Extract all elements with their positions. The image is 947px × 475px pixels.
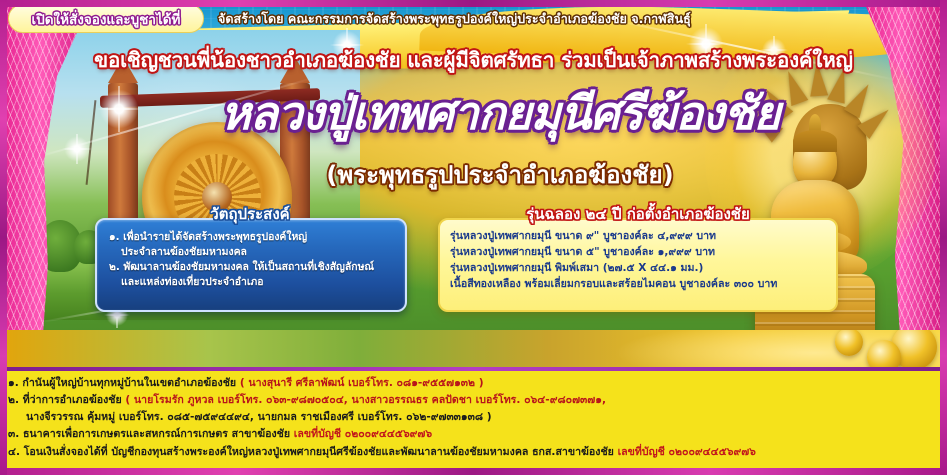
contact-list: ๑. กำนันผู้ใหญ่บ้านทุกหมู่บ้านในเขตอำเภอ…	[8, 375, 768, 461]
builder-credit: จัดสร้างโดย คณะกรรมการจัดสร้างพระพุทธรูป…	[218, 9, 691, 29]
main-title: หลวงปู่เทพศากยมุนีศรีฆ้องชัย	[150, 88, 850, 139]
objectives-heading: วัตถุประสงค์	[95, 202, 405, 226]
headline: ขอเชิญชวนพี่น้องชาวอำเภอฆ้องชัย และผู้มี…	[0, 44, 947, 77]
contact-row: ๓. ธนาคารเพื่อการเกษตรและสหกรณ์การเกษตร …	[8, 426, 768, 443]
version-line: เนื้อสีทองเหลือง พร้อมเลี่ยมกรอบและสร้อย…	[450, 276, 826, 292]
contact-row: ๑. กำนันผู้ใหญ่บ้านทุกหมู่บ้านในเขตอำเภอ…	[8, 375, 768, 392]
contact-label: ๓. ธนาคารเพื่อการเกษตรและสหกรณ์การเกษตร …	[8, 428, 290, 440]
contact-detail: ( นางสุนารี ศรีลาพัฒน์ เบอร์โทร. ๐๘๑-๙๕๕…	[240, 377, 484, 389]
account-number: เลขที่บัญชี ๐๒๐๐๙๔๔๕๖๙๗๖	[294, 428, 432, 440]
gold-bar-background	[0, 330, 947, 368]
versions-heading: รุ่นฉลอง ๒๔ ปี ก่อตั้งอำเภอฆ้องชัย	[438, 202, 838, 226]
version-line: รุ่นหลวงปู่เทพศากยมุนี ขนาด ๙" บูชาองค์ล…	[450, 228, 826, 244]
contact-label: ๔. โอนเงินสั่งจองได้ที่ บัญชีกองทุนสร้าง…	[8, 446, 614, 458]
objective-item-cont: ประจำลานฆ้องชัยมหามงคล	[109, 245, 395, 260]
order-here-label: เปิดให้สั่งจองและบูชาได้ที่	[32, 8, 181, 30]
contact-section: ๑. กำนันผู้ใหญ่บ้านทุกหมู่บ้านในเขตอำเภอ…	[0, 371, 947, 475]
objective-item: ๒. พัฒนาลานฆ้องชัยมหามงคล ให้เป็นสถานที่…	[109, 260, 395, 275]
sub-title: (พระพุทธรูปประจำอำเภอฆ้องชัย)	[150, 155, 850, 194]
contact-label: ๒. ที่ว่าการอำเภอฆ้องชัย	[8, 394, 122, 406]
purple-divider	[0, 367, 947, 371]
poster-canvas: ขอเชิญชวนพี่น้องชาวอำเภอฆ้องชัย และผู้มี…	[0, 0, 947, 475]
order-here-pill: เปิดให้สั่งจองและบูชาได้ที่	[8, 4, 204, 33]
objective-item: ๑. เพื่อนำรายได้จัดสร้างพระพุทธรูปองค์ให…	[109, 230, 395, 245]
objectives-panel: ๑. เพื่อนำรายได้จัดสร้างพระพุทธรูปองค์ให…	[95, 218, 407, 312]
contact-row: ๔. โอนเงินสั่งจองได้ที่ บัญชีกองทุนสร้าง…	[8, 444, 768, 461]
contact-row-continued: นางจีรวรรณ คุ้มหมู่ เบอร์โทร. ๐๘๕-๗๕๙๔๔๙…	[8, 409, 768, 426]
contact-label: ๑. กำนันผู้ใหญ่บ้านทุกหมู่บ้านในเขตอำเภอ…	[8, 377, 236, 389]
contact-detail: ( นายโรมรัก ภูหวล เบอร์โทร. ๐๖๓-๙๘๗๐๕๐๔,…	[125, 394, 606, 406]
gong-hanger-rope	[86, 100, 97, 185]
account-number: เลขที่บัญชี ๐๒๐๐๙๔๔๕๖๙๗๖	[618, 446, 756, 458]
coin-graphic	[867, 340, 901, 368]
frame-border-right	[940, 0, 947, 475]
order-info-bar	[0, 330, 947, 368]
version-line: รุ่นหลวงปู่เทพศากยมุนี พิมพ์เสมา (๒๗.๕ X…	[450, 260, 826, 276]
frame-border-top	[0, 0, 947, 7]
version-line: รุ่นหลวงปู่เทพศากยมุนี ขนาด ๕" บูชาองค์ล…	[450, 244, 826, 260]
versions-panel: รุ่นหลวงปู่เทพศากยมุนี ขนาด ๙" บูชาองค์ล…	[438, 218, 838, 312]
objective-item-cont: และแหล่งท่องเที่ยวประจำอำเภอ	[109, 275, 395, 290]
frame-border-bottom	[0, 468, 947, 475]
contact-row: ๒. ที่ว่าการอำเภอฆ้องชัย ( นายโรมรัก ภูห…	[8, 392, 768, 409]
frame-border-left	[0, 0, 7, 475]
